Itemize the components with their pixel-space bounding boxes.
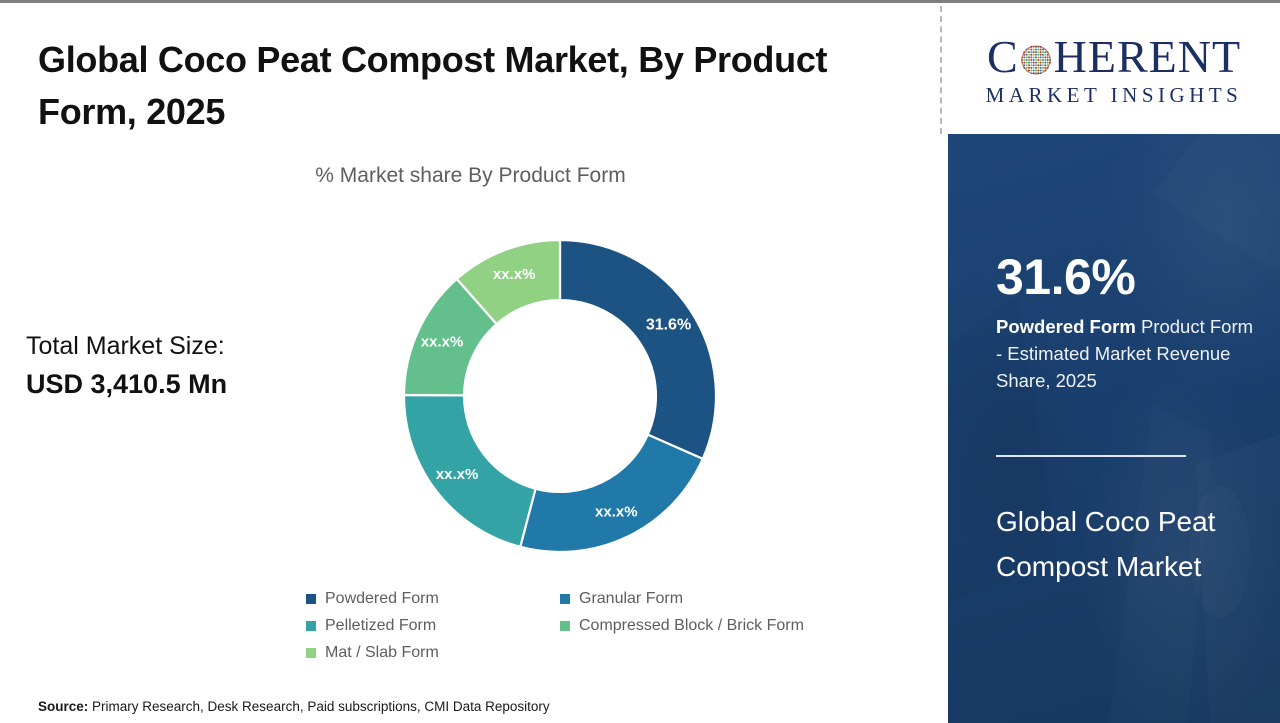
- highlight-panel: 31.6% Powdered Form Product Form - Estim…: [948, 134, 1280, 723]
- donut-slice: [560, 240, 716, 459]
- legend-item-label: Powdered Form: [325, 590, 439, 608]
- legend-color-swatch: [306, 594, 316, 604]
- donut-slice-label: xx.x%: [421, 333, 464, 350]
- legend-item[interactable]: Pelletized Form: [306, 617, 560, 635]
- legend-item[interactable]: Granular Form: [560, 590, 866, 608]
- stat-value: 31.6%: [996, 251, 1258, 304]
- panel-divider: [940, 6, 942, 134]
- dotted-sphere-icon: [1019, 43, 1053, 77]
- donut-slice-label: xx.x%: [493, 266, 536, 283]
- total-market-size-label: Total Market Size:: [26, 328, 346, 364]
- chart-panel: Global Coco Peat Compost Market, By Prod…: [0, 6, 941, 723]
- donut-slice-label: 31.6%: [646, 316, 691, 333]
- chart-legend: Powdered FormGranular FormPelletized For…: [306, 590, 866, 662]
- chart-subtitle: % Market share By Product Form: [0, 164, 941, 188]
- donut-slice-label: xx.x%: [595, 504, 638, 521]
- donut-slice: [520, 435, 703, 552]
- source-text: Primary Research, Desk Research, Paid su…: [88, 699, 549, 714]
- brand-tagline: MARKET INSIGHTS: [986, 85, 1243, 106]
- stat-caption-segment: Powdered Form: [996, 316, 1136, 337]
- infographic-canvas: Global Coco Peat Compost Market, By Prod…: [0, 0, 1280, 720]
- legend-color-swatch: [306, 621, 316, 631]
- legend-item[interactable]: Powdered Form: [306, 590, 560, 608]
- legend-color-swatch: [560, 621, 570, 631]
- legend-item[interactable]: Compressed Block / Brick Form: [560, 617, 866, 635]
- donut-chart: 31.6%xx.x%xx.x%xx.x%xx.x%: [378, 214, 742, 578]
- donut-slices: [404, 240, 716, 552]
- panel-divider-rule: [996, 455, 1186, 457]
- total-market-size-block: Total Market Size: USD 3,410.5 Mn: [26, 328, 346, 404]
- source-label: Source:: [38, 699, 88, 714]
- brand-name-initial: C: [987, 34, 1019, 80]
- page-title: Global Coco Peat Compost Market, By Prod…: [38, 34, 878, 138]
- legend-color-swatch: [306, 648, 316, 658]
- donut-slice-label: xx.x%: [436, 466, 479, 483]
- legend-item-label: Pelletized Form: [325, 617, 436, 635]
- stat-block: 31.6% Powdered Form Product Form - Estim…: [996, 251, 1258, 394]
- brand-logo: C HERENT MARKET INSIGHTS: [948, 6, 1280, 134]
- legend-item-label: Mat / Slab Form: [325, 644, 439, 662]
- donut-chart-svg: 31.6%xx.x%xx.x%xx.x%xx.x%: [378, 214, 742, 578]
- legend-color-swatch: [560, 594, 570, 604]
- source-note: Source: Primary Research, Desk Research,…: [38, 699, 550, 714]
- legend-item[interactable]: Mat / Slab Form: [306, 644, 560, 662]
- legend-item-label: Compressed Block / Brick Form: [579, 617, 804, 635]
- brand-name-rest: HERENT: [1054, 34, 1241, 80]
- brand-wordmark: C HERENT: [987, 34, 1241, 80]
- panel-background-texture: [948, 134, 1280, 723]
- stat-caption: Powdered Form Product Form - Estimated M…: [996, 313, 1258, 394]
- legend-item-label: Granular Form: [579, 590, 683, 608]
- total-market-size-value: USD 3,410.5 Mn: [26, 364, 346, 404]
- panel-market-name: Global Coco Peat Compost Market: [996, 499, 1246, 589]
